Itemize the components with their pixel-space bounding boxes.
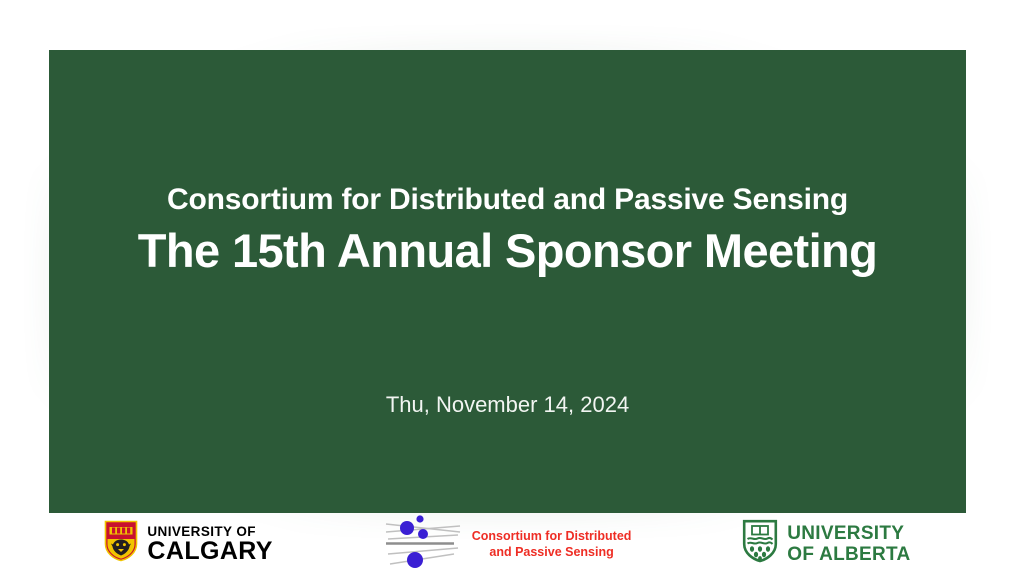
calgary-wordmark-line-2: CALGARY	[147, 539, 272, 564]
title-panel: Consortium for Distributed and Passive S…	[49, 50, 966, 513]
logo-cdps: Consortium for Distributed and Passive S…	[384, 516, 632, 571]
cdps-wordmark-line-1: Consortium for Distributed	[472, 528, 632, 544]
calgary-wordmark: UNIVERSITY OF CALGARY	[147, 524, 272, 564]
slide-title: The 15th Annual Sponsor Meeting	[49, 222, 966, 280]
calgary-shield-icon	[104, 520, 138, 567]
cdps-wordmark: Consortium for Distributed and Passive S…	[472, 528, 632, 560]
alberta-wordmark-line-1: UNIVERSITY	[787, 523, 910, 544]
slide-subtitle: Consortium for Distributed and Passive S…	[49, 178, 966, 222]
slide-date: Thu, November 14, 2024	[49, 390, 966, 420]
presentation-slide: Consortium for Distributed and Passive S…	[0, 0, 1024, 574]
logo-university-of-alberta: UNIVERSITY OF ALBERTA	[742, 516, 910, 571]
alberta-wordmark: UNIVERSITY OF ALBERTA	[787, 523, 910, 565]
alberta-wordmark-line-2: OF ALBERTA	[787, 544, 910, 565]
logo-university-of-calgary: UNIVERSITY OF CALGARY	[104, 516, 272, 571]
cdps-wordmark-line-2: and Passive Sensing	[472, 544, 632, 560]
title-block: Consortium for Distributed and Passive S…	[49, 178, 966, 280]
sponsor-logo-strip: UNIVERSITY OF CALGARY	[49, 513, 966, 574]
alberta-shield-icon	[742, 519, 778, 568]
cdps-dots-lines-icon	[384, 512, 464, 575]
